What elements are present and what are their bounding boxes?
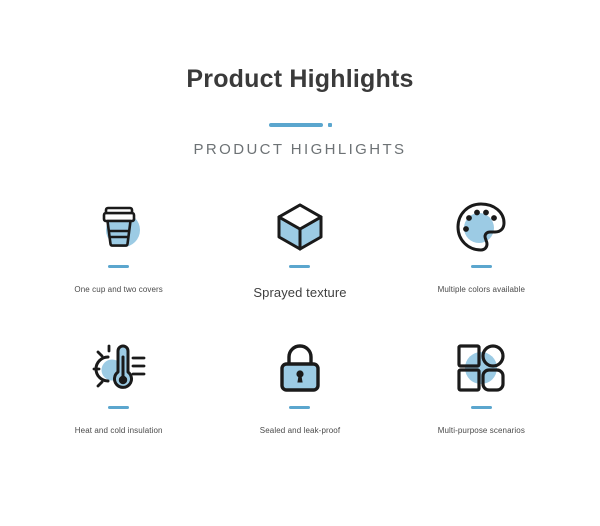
thermometer-sun-icon <box>88 337 150 399</box>
feature-caption: Sprayed texture <box>253 285 346 302</box>
coffee-cup-icon <box>88 196 150 258</box>
accent-bar <box>108 406 129 409</box>
feature-caption: Multiple colors available <box>438 285 525 295</box>
product-highlights-page: Product Highlights PRODUCT HIGHLIGHTS On… <box>0 0 600 526</box>
divider-line-icon <box>269 123 323 127</box>
feature-caption: One cup and two covers <box>74 285 162 295</box>
divider-dot-icon <box>328 123 332 127</box>
page-subtitle: PRODUCT HIGHLIGHTS <box>0 141 600 158</box>
feature-caption: Sealed and leak-proof <box>260 426 340 436</box>
feature-item: Sealed and leak-proof <box>209 337 390 478</box>
page-title: Product Highlights <box>0 64 600 94</box>
section-divider <box>0 120 600 130</box>
feature-caption: Multi-purpose scenarios <box>438 426 525 436</box>
feature-item: Multi-purpose scenarios <box>391 337 572 478</box>
feature-item: One cup and two covers <box>28 196 209 337</box>
page-header: Product Highlights PRODUCT HIGHLIGHTS <box>0 0 600 158</box>
padlock-icon <box>269 337 331 399</box>
accent-bar <box>471 265 492 268</box>
accent-bar <box>289 406 310 409</box>
feature-caption: Heat and cold insulation <box>75 426 163 436</box>
paint-palette-icon <box>450 196 512 258</box>
feature-item: Sprayed texture <box>209 196 390 337</box>
four-shapes-grid-icon <box>450 337 512 399</box>
feature-item: Multiple colors available <box>391 196 572 337</box>
accent-bar <box>289 265 310 268</box>
accent-bar <box>471 406 492 409</box>
features-grid: One cup and two covers Sprayed texture <box>0 196 600 478</box>
feature-item: Heat and cold insulation <box>28 337 209 478</box>
accent-bar <box>108 265 129 268</box>
cube-box-icon <box>269 196 331 258</box>
